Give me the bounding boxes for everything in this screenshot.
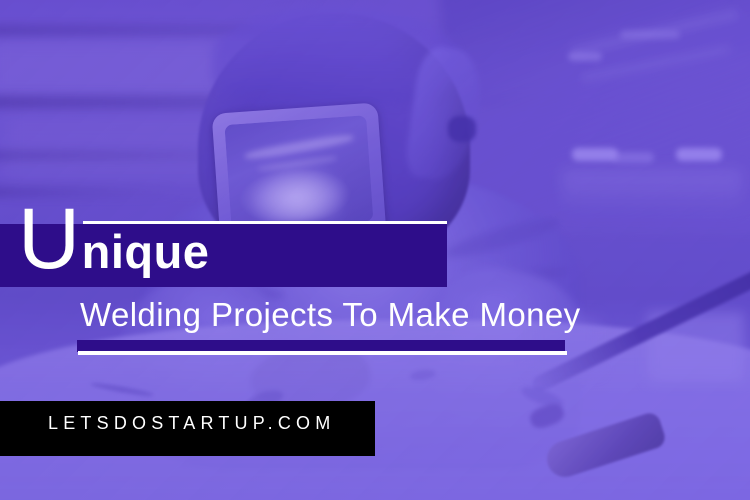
page-title-remainder: nique — [82, 228, 210, 275]
website-url-text[interactable]: LETSDOSTARTUP.COM — [48, 413, 335, 434]
page-subtitle: Welding Projects To Make Money — [80, 296, 581, 334]
blog-hero-banner: U nique Welding Projects To Make Money L… — [0, 0, 750, 500]
page-title-initial: U — [18, 196, 81, 282]
text-overlay: U nique Welding Projects To Make Money L… — [0, 0, 750, 500]
subtitle-white-rule — [78, 351, 567, 355]
page-title: U nique — [18, 196, 209, 286]
